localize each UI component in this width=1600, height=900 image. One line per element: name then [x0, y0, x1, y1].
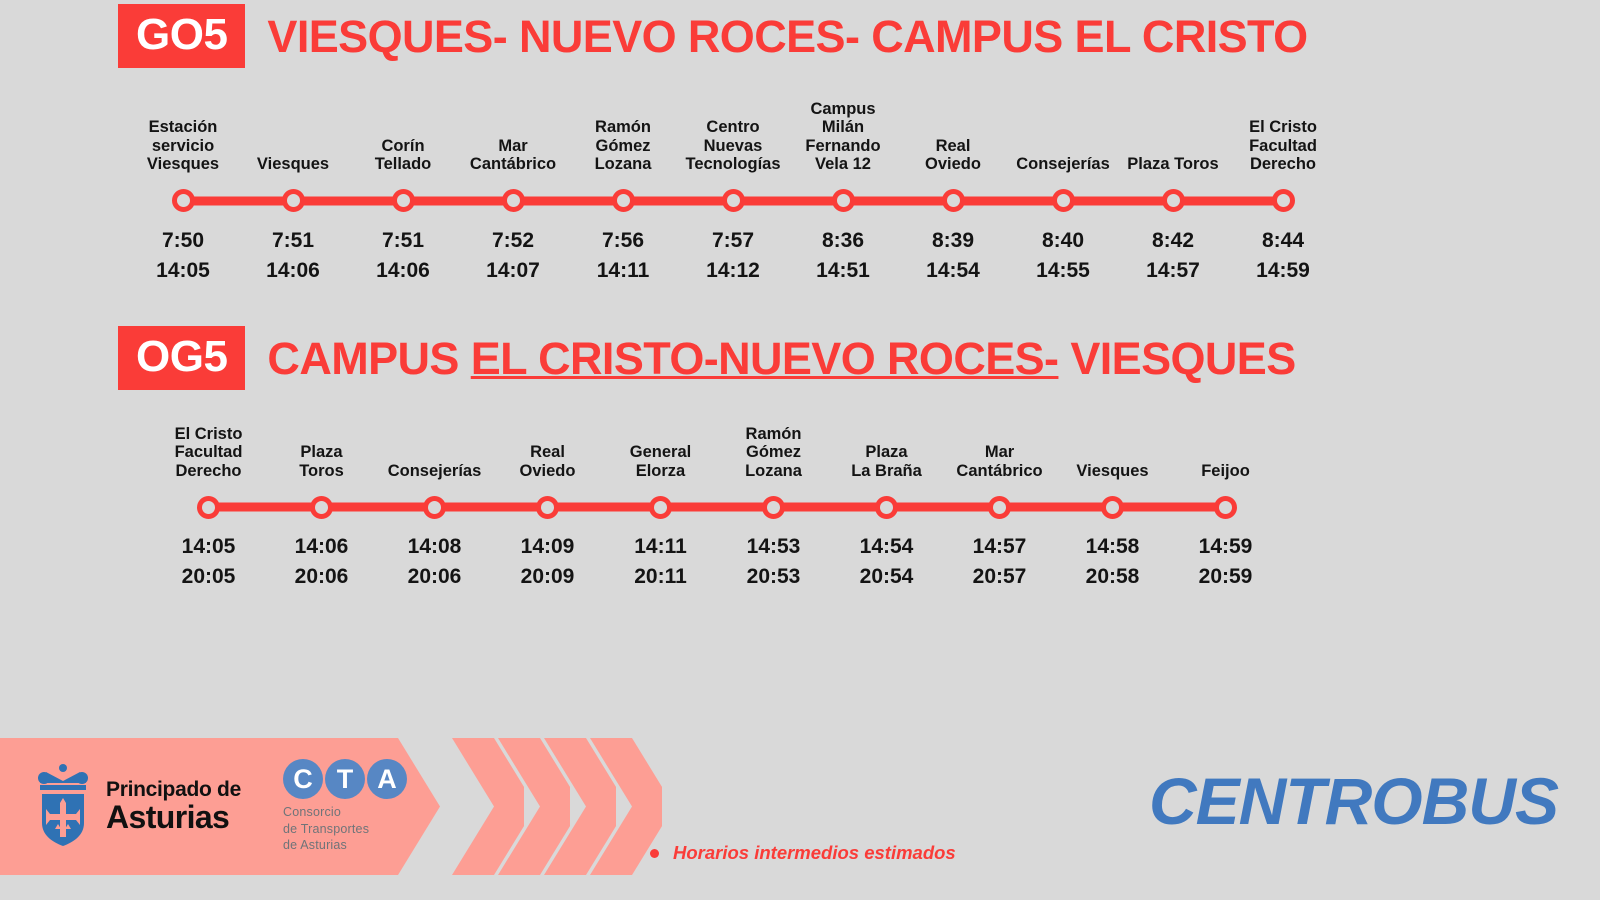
stop-name: Real Oviedo	[921, 116, 985, 174]
cta-letter-t: T	[325, 759, 365, 799]
stop-time: 14:06	[266, 256, 320, 286]
stop-time: 7:51	[376, 226, 430, 256]
stop-time: 14:57	[1146, 256, 1200, 286]
stop-times: 14:0820:06	[408, 532, 462, 592]
route-title-text: VIESQUES	[1058, 333, 1295, 384]
stop-time: 20:54	[860, 562, 914, 592]
stop-marker-band	[568, 186, 678, 216]
stop-time: 14:09	[521, 532, 575, 562]
stop-time: 7:56	[597, 226, 650, 256]
stop-dot-icon[interactable]	[310, 496, 333, 519]
stop-times: 8:3614:51	[816, 226, 870, 286]
stop-name: Estación servicio Viesques	[143, 116, 223, 174]
stop-column: Ramón Gómez Lozana14:5320:53	[717, 422, 830, 592]
stop-dot-icon[interactable]	[172, 189, 195, 212]
stop-time: 14:05	[156, 256, 210, 286]
stop-times: 14:0920:09	[521, 532, 575, 592]
stop-time: 20:09	[521, 562, 575, 592]
stops-row: El Cristo Facultad Derecho14:0520:05Plaz…	[152, 422, 1282, 592]
stop-marker-band	[378, 492, 491, 522]
stop-column: Feijoo14:5920:59	[1169, 422, 1282, 592]
stop-column: El Cristo Facultad Derecho14:0520:05	[152, 422, 265, 592]
stop-dot-icon[interactable]	[722, 189, 745, 212]
stop-name: Campus Milán Fernando Vela 12	[788, 100, 898, 174]
stop-time: 14:11	[634, 532, 687, 562]
stop-time: 14:54	[926, 256, 980, 286]
stop-column: Campus Milán Fernando Vela 128:3614:51	[788, 100, 898, 286]
route-title: VIESQUES- NUEVO ROCES- CAMPUS EL CRISTO	[267, 14, 1307, 59]
cta-letters: C T A	[283, 759, 407, 799]
stop-times: 8:4214:57	[1146, 226, 1200, 286]
stop-dot-icon[interactable]	[392, 189, 415, 212]
route-line-diagram: El Cristo Facultad Derecho14:0520:05Plaz…	[0, 422, 1600, 607]
stop-dot-icon[interactable]	[649, 496, 672, 519]
stop-time: 20:05	[182, 562, 236, 592]
stop-time: 14:08	[408, 532, 462, 562]
stop-column: Estación servicio Viesques7:5014:05	[128, 116, 238, 286]
stop-time: 20:53	[747, 562, 801, 592]
stop-name: Corín Tellado	[371, 116, 436, 174]
cta-letter-a: A	[367, 759, 407, 799]
stop-dot-icon[interactable]	[1214, 496, 1237, 519]
stop-times: 7:5114:06	[376, 226, 430, 286]
stop-marker-band	[943, 492, 1056, 522]
stop-time: 8:42	[1146, 226, 1200, 256]
stop-column: Real Oviedo14:0920:09	[491, 422, 604, 592]
stop-marker-band	[1228, 186, 1338, 216]
stop-column: Viesques14:5820:58	[1056, 422, 1169, 592]
stop-time: 8:40	[1036, 226, 1090, 256]
stop-times: 14:5420:54	[860, 532, 914, 592]
route-header: OG5 CAMPUS EL CRISTO-NUEVO ROCES- VIESQU…	[0, 322, 1600, 394]
cta-logo: C T A Consorcio de Transportes de Asturi…	[283, 759, 407, 854]
stop-name: Viesques	[1072, 422, 1152, 480]
footer: Principado de Asturias C T A Consorcio d…	[0, 720, 1600, 900]
stop-time: 7:57	[706, 226, 760, 256]
stop-column: El Cristo Facultad Derecho8:4414:59	[1228, 116, 1338, 286]
footer-logo-band: Principado de Asturias C T A Consorcio d…	[0, 738, 440, 875]
route-badge: OG5	[118, 326, 245, 390]
stop-name: Plaza Toros	[295, 422, 348, 480]
stop-time: 7:50	[156, 226, 210, 256]
stop-time: 14:57	[973, 532, 1027, 562]
stop-dot-icon[interactable]	[282, 189, 305, 212]
stop-marker-band	[604, 492, 717, 522]
stop-marker-band	[458, 186, 568, 216]
stop-column: Ramón Gómez Lozana7:5614:11	[568, 116, 678, 286]
stop-column: Plaza La Braña14:5420:54	[830, 422, 943, 592]
stop-time: 20:06	[408, 562, 462, 592]
cta-letter-c: C	[283, 759, 323, 799]
stop-column: Centro Nuevas Tecnologías7:5714:12	[678, 116, 788, 286]
stop-marker-band	[1056, 492, 1169, 522]
stop-column: Mar Cantábrico7:5214:07	[458, 116, 568, 286]
stop-times: 7:5614:11	[597, 226, 650, 286]
stop-times: 8:4014:55	[1036, 226, 1090, 286]
stop-time: 14:05	[182, 532, 236, 562]
stop-column: General Elorza14:1120:11	[604, 422, 717, 592]
stop-times: 14:5920:59	[1199, 532, 1253, 592]
stop-times: 7:5114:06	[266, 226, 320, 286]
stop-column: Consejerías14:0820:06	[378, 422, 491, 592]
route-line-diagram: Estación servicio Viesques7:5014:05Viesq…	[0, 100, 1600, 285]
route-section-go5: GO5 VIESQUES- NUEVO ROCES- CAMPUS EL CRI…	[0, 0, 1600, 285]
stop-time: 14:06	[295, 532, 349, 562]
stop-column: Plaza Toros14:0620:06	[265, 422, 378, 592]
stop-time: 20:59	[1199, 562, 1253, 592]
stop-marker-band	[238, 186, 348, 216]
stop-times: 14:5720:57	[973, 532, 1027, 592]
stop-time: 14:58	[1086, 532, 1140, 562]
stop-marker-band	[1118, 186, 1228, 216]
stop-times: 8:3914:54	[926, 226, 980, 286]
stop-dot-icon[interactable]	[197, 496, 220, 519]
stop-time: 14:55	[1036, 256, 1090, 286]
stop-dot-icon[interactable]	[423, 496, 446, 519]
stop-marker-band	[348, 186, 458, 216]
footnote-text: Horarios intermedios estimados	[673, 842, 956, 864]
stop-marker-band	[491, 492, 604, 522]
stop-time: 20:57	[973, 562, 1027, 592]
route-title-prefix: CAMPUS	[267, 333, 470, 384]
stop-name: Consejerías	[1012, 116, 1114, 174]
stop-name: Ramón Gómez Lozana	[568, 116, 678, 174]
stop-name: Real Oviedo	[516, 422, 580, 480]
route-section-og5: OG5 CAMPUS EL CRISTO-NUEVO ROCES- VIESQU…	[0, 322, 1600, 607]
stop-times: 14:1120:11	[634, 532, 687, 592]
stop-times: 14:5820:58	[1086, 532, 1140, 592]
footnote: Horarios intermedios estimados	[650, 842, 956, 864]
stop-time: 14:59	[1256, 256, 1310, 286]
stop-name: Feijoo	[1197, 422, 1254, 480]
stop-name: El Cristo Facultad Derecho	[171, 422, 247, 480]
stop-name: Centro Nuevas Tecnologías	[678, 116, 788, 174]
stop-times: 7:5714:12	[706, 226, 760, 286]
stop-column: Mar Cantábrico14:5720:57	[943, 422, 1056, 592]
route-title: CAMPUS EL CRISTO-NUEVO ROCES- VIESQUES	[267, 336, 1295, 381]
route-header: GO5 VIESQUES- NUEVO ROCES- CAMPUS EL CRI…	[0, 0, 1600, 72]
stop-column: Viesques7:5114:06	[238, 116, 348, 286]
stop-dot-icon[interactable]	[1162, 189, 1185, 212]
stops-row: Estación servicio Viesques7:5014:05Viesq…	[128, 100, 1338, 286]
stop-marker-band	[1169, 492, 1282, 522]
stop-marker-band	[128, 186, 238, 216]
asturias-line-1: Principado de	[106, 779, 241, 801]
stop-marker-band	[265, 492, 378, 522]
stop-dot-icon[interactable]	[1101, 496, 1124, 519]
stop-time: 8:44	[1256, 226, 1310, 256]
route-badge: GO5	[118, 4, 245, 68]
stop-times: 14:0620:06	[295, 532, 349, 592]
stop-time: 14:07	[486, 256, 540, 286]
stop-column: Real Oviedo8:3914:54	[898, 116, 1008, 286]
stop-time: 8:36	[816, 226, 870, 256]
stop-dot-icon[interactable]	[502, 189, 525, 212]
stop-marker-band	[1008, 186, 1118, 216]
stop-time: 8:39	[926, 226, 980, 256]
stop-time: 14:12	[706, 256, 760, 286]
stop-dot-icon[interactable]	[612, 189, 635, 212]
stop-marker-band	[717, 492, 830, 522]
stop-time: 14:59	[1199, 532, 1253, 562]
stop-column: Corín Tellado7:5114:06	[348, 116, 458, 286]
stop-name: Mar Cantábrico	[952, 422, 1046, 480]
stop-column: Consejerías8:4014:55	[1008, 116, 1118, 286]
cta-subtitle: Consorcio de Transportes de Asturias	[283, 804, 407, 854]
stop-dot-icon[interactable]	[1052, 189, 1075, 212]
centrobus-logo: CENTROBUS	[1149, 768, 1558, 834]
stop-time: 14:11	[597, 256, 650, 286]
stop-dot-icon[interactable]	[762, 496, 785, 519]
stop-dot-icon[interactable]	[942, 189, 965, 212]
stop-column: Plaza Toros8:4214:57	[1118, 116, 1228, 286]
stop-name: Mar Cantábrico	[466, 116, 560, 174]
stop-dot-icon[interactable]	[875, 496, 898, 519]
stop-name: Plaza La Braña	[847, 422, 926, 480]
stop-times: 7:5214:07	[486, 226, 540, 286]
stop-time: 7:52	[486, 226, 540, 256]
stop-marker-band	[898, 186, 1008, 216]
stop-time: 14:51	[816, 256, 870, 286]
route-title-text: VIESQUES- NUEVO ROCES- CAMPUS EL CRISTO	[267, 11, 1307, 62]
stop-marker-band	[830, 492, 943, 522]
stop-time: 14:53	[747, 532, 801, 562]
stop-time: 20:06	[295, 562, 349, 592]
asturias-line-2: Asturias	[106, 801, 241, 835]
stop-times: 8:4414:59	[1256, 226, 1310, 286]
stop-marker-band	[152, 492, 265, 522]
stop-time: 7:51	[266, 226, 320, 256]
stop-time: 14:06	[376, 256, 430, 286]
stop-name: Consejerías	[384, 422, 486, 480]
stop-dot-icon[interactable]	[988, 496, 1011, 519]
stop-times: 7:5014:05	[156, 226, 210, 286]
stop-name: Viesques	[253, 116, 333, 174]
bullet-icon	[650, 849, 659, 858]
stop-dot-icon[interactable]	[832, 189, 855, 212]
stop-times: 14:5320:53	[747, 532, 801, 592]
stop-name: Ramón Gómez Lozana	[717, 422, 830, 480]
stop-marker-band	[678, 186, 788, 216]
stop-time: 20:11	[634, 562, 687, 592]
asturias-wordmark: Principado de Asturias	[106, 779, 241, 835]
stop-name: General Elorza	[626, 422, 695, 480]
route-title-underlined: EL CRISTO-NUEVO ROCES-	[471, 333, 1059, 384]
stop-time: 14:54	[860, 532, 914, 562]
asturias-shield-icon	[34, 761, 92, 852]
stop-times: 14:0520:05	[182, 532, 236, 592]
stop-marker-band	[788, 186, 898, 216]
stop-dot-icon[interactable]	[1272, 189, 1295, 212]
stop-time: 20:58	[1086, 562, 1140, 592]
stop-name: Plaza Toros	[1123, 116, 1222, 174]
stop-name: El Cristo Facultad Derecho	[1245, 116, 1321, 174]
stop-dot-icon[interactable]	[536, 496, 559, 519]
